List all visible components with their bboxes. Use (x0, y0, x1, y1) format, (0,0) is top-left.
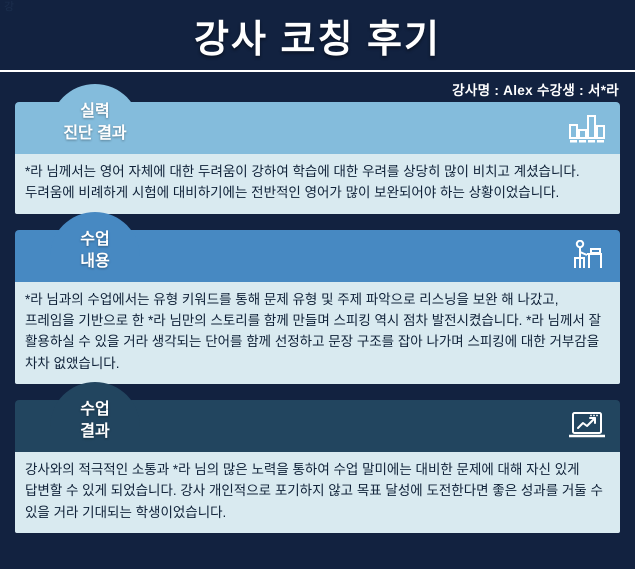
section-lesson-result-body: 강사와의 적극적인 소통과 *라 님의 많은 노력을 통하여 수업 말미에는 대… (15, 452, 620, 533)
sections-container: 실력 진단 결과 *라 님께서는 영어 자체에 대한 두려움이 강하여 학습에 … (0, 102, 635, 533)
corner-watermark: 강 (4, 2, 14, 13)
section-lesson-content-label-line1: 수업 (80, 229, 109, 251)
section-diagnosis-label-line1: 실력 (80, 101, 109, 123)
bar-chart-icon (568, 111, 606, 145)
title-bar: 강 강사 코칭 후기 (0, 0, 635, 72)
section-lesson-result-label: 수업 결과 (50, 382, 140, 452)
person-at-desk-icon (568, 239, 606, 273)
section-lesson-content: 수업 내용 *라 님과의 수업에서는 유형 키워드를 통해 문제 유 (15, 230, 620, 384)
section-diagnosis-header: 실력 진단 결과 (15, 102, 620, 154)
section-lesson-result-label-line2: 결과 (80, 421, 109, 443)
section-lesson-result: 수업 결과 강사와의 적극적인 소통과 *라 님의 많은 노력을 통하여 수업 … (15, 400, 620, 533)
laptop-growth-chart-icon (568, 409, 606, 443)
section-lesson-content-body: *라 님과의 수업에서는 유형 키워드를 통해 문제 유형 및 주제 파악으로 … (15, 282, 620, 384)
section-diagnosis: 실력 진단 결과 *라 님께서는 영어 자체에 대한 두려움이 강하여 학습에 … (15, 102, 620, 214)
section-diagnosis-label-line2: 진단 결과 (63, 123, 126, 145)
section-diagnosis-body: *라 님께서는 영어 자체에 대한 두려움이 강하여 학습에 대한 우려를 상당… (15, 154, 620, 214)
section-lesson-result-label-line1: 수업 (80, 399, 109, 421)
instructor-student-info: 강사명 : Alex 수강생 : 서*라 (452, 79, 619, 99)
section-lesson-content-label: 수업 내용 (50, 212, 140, 282)
section-lesson-content-header: 수업 내용 (15, 230, 620, 282)
section-lesson-result-header: 수업 결과 (15, 400, 620, 452)
page-title: 강사 코칭 후기 (194, 8, 441, 63)
section-lesson-content-label-line2: 내용 (80, 251, 109, 273)
